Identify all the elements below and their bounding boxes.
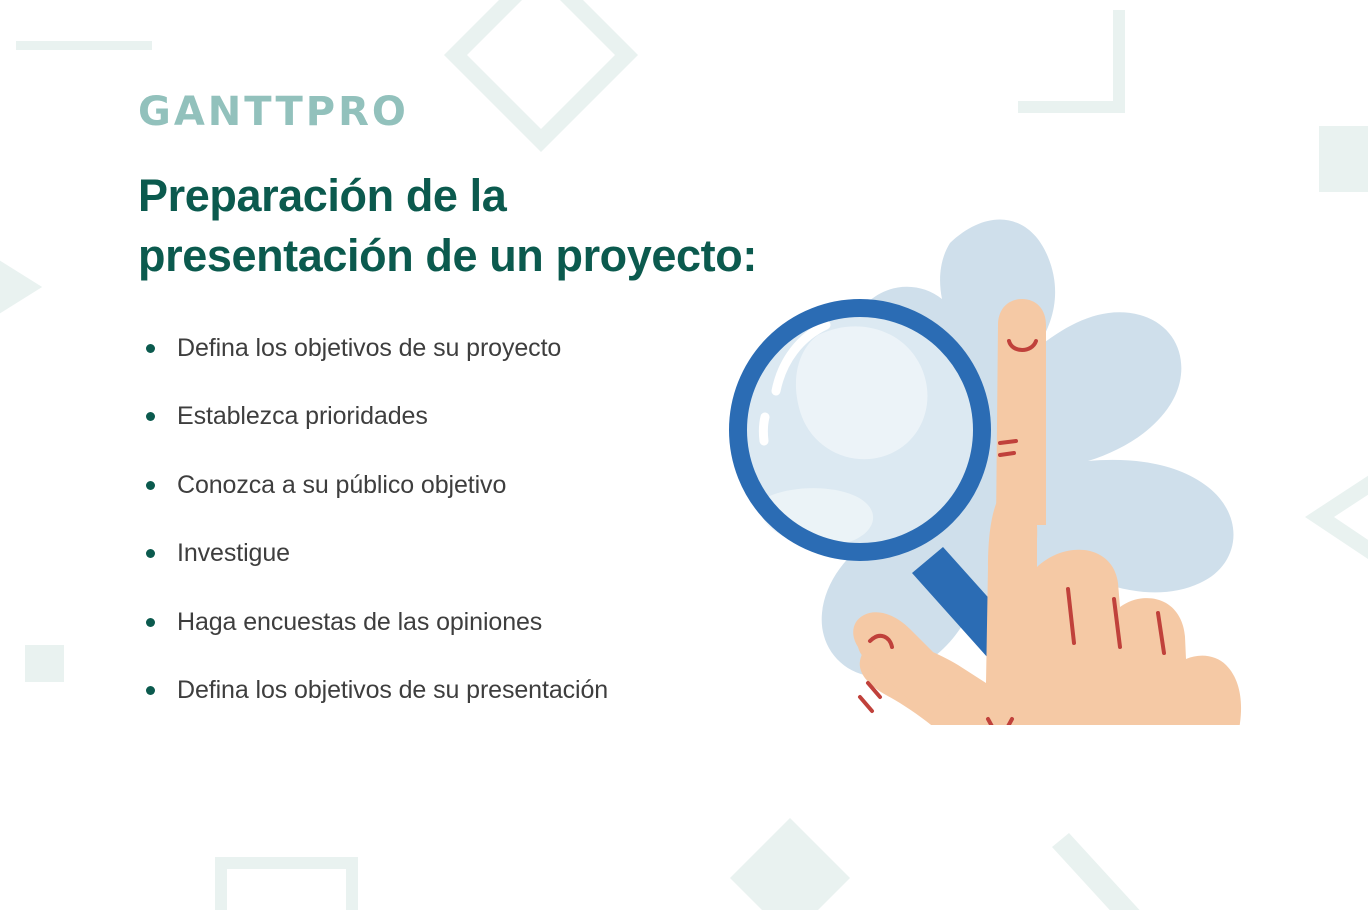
list-item: Investigue xyxy=(138,537,760,570)
bullet-dot-icon xyxy=(146,549,155,558)
list-item: Defina los objetivos de su presentación xyxy=(138,674,760,707)
illustration-hand-magnifier xyxy=(700,195,1300,725)
bullet-dot-icon xyxy=(146,412,155,421)
decor-diagonal-bottom-right xyxy=(1052,833,1145,910)
list-item: Establezca prioridades xyxy=(138,400,760,433)
magnifier-lens xyxy=(738,308,982,552)
list-item: Haga encuestas de las opiniones xyxy=(138,606,760,639)
ganttpro-logo[interactable]: GANTTPRO xyxy=(138,92,760,132)
bullet-dot-icon xyxy=(146,481,155,490)
list-item: Conozca a su público objetivo xyxy=(138,469,760,502)
bullet-dot-icon xyxy=(146,686,155,695)
content-column: GANTTPRO Preparación de la presentación … xyxy=(0,0,760,910)
list-item: Defina los objetivos de su proyecto xyxy=(138,332,760,365)
page-title: Preparación de la presentación de un pro… xyxy=(138,166,760,286)
decor-chevron-right xyxy=(1305,460,1368,575)
list-item-label: Defina los objetivos de su presentación xyxy=(177,674,608,707)
list-item-label: Investigue xyxy=(177,537,290,570)
preparation-steps-list: Defina los objetivos de su proyecto Esta… xyxy=(138,332,760,707)
slide-root: GANTTPRO Preparación de la presentación … xyxy=(0,0,1368,910)
decor-bracket-top-right xyxy=(1018,10,1125,113)
bullet-dot-icon xyxy=(146,344,155,353)
list-item-label: Establezca prioridades xyxy=(177,400,428,433)
bullet-dot-icon xyxy=(146,618,155,627)
list-item-label: Defina los objetivos de su proyecto xyxy=(177,332,561,365)
list-item-label: Conozca a su público objetivo xyxy=(177,469,506,502)
list-item-label: Haga encuestas de las opiniones xyxy=(177,606,542,639)
decor-square-right xyxy=(1319,126,1368,192)
